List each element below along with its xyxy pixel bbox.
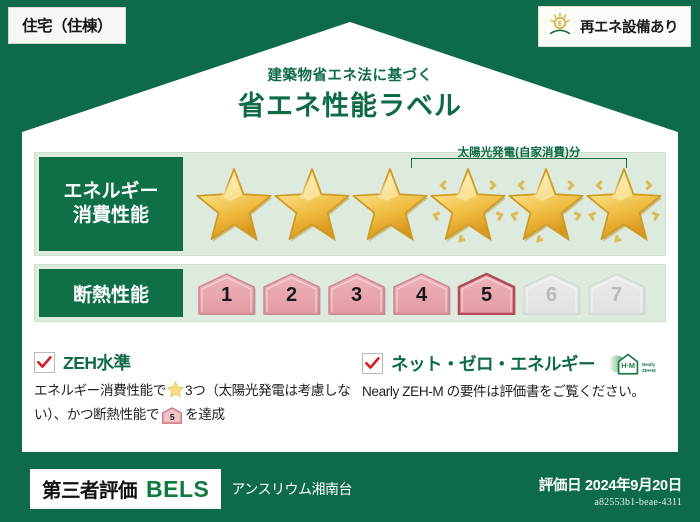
renewable-equipment-badge: E 再エネ設備あり bbox=[538, 6, 691, 47]
insulation-performance-row: 断熱性能 1 bbox=[34, 264, 666, 322]
insulation-row-body: 1 2 bbox=[187, 265, 665, 321]
insulation-marker-7: 7 bbox=[585, 271, 648, 315]
building-name: アンスリウム湘南台 bbox=[231, 479, 352, 499]
building-type-tag: 住宅（住棟） bbox=[8, 7, 126, 44]
bels-jp-label: 第三者評価 bbox=[42, 474, 137, 503]
page-title: 省エネ性能ラベル bbox=[0, 84, 700, 123]
feature-zeh-body: エネルギー消費性能で3つ（太陽光発電は考慮しない）、かつ断熱性能で5を達成 bbox=[34, 380, 354, 430]
insulation-marker-3: 3 bbox=[325, 271, 388, 315]
energy-row-body: 太陽光発電(自家消費)分 bbox=[187, 153, 665, 255]
bels-certification-box: 第三者評価 BELS bbox=[30, 469, 221, 509]
svg-text:E: E bbox=[558, 21, 563, 28]
feature-nze-title: ネット・ゼロ・エネルギー bbox=[391, 351, 595, 376]
feature-net-zero-energy: ネット・ゼロ・エネルギー H·M Nearly bbox=[362, 350, 672, 402]
svg-text:5: 5 bbox=[170, 412, 175, 422]
checkbox-checked-icon bbox=[362, 353, 383, 374]
evaluation-date: 評価日 2024年9月20日 bbox=[539, 474, 682, 495]
insulation-row-label: 断熱性能 bbox=[39, 269, 183, 317]
star-solar bbox=[429, 165, 507, 243]
energy-label-card: 住宅（住棟） E 再エネ設備あり 建築物省エネ法に基づく 省エネ性能ラベル bbox=[0, 0, 700, 522]
star-filled bbox=[273, 165, 351, 243]
zeh-m-logo: H·M Nearly ZEH-M bbox=[607, 350, 656, 376]
insulation-marker-label: 4 bbox=[416, 284, 427, 315]
insulation-marker-label: 5 bbox=[481, 284, 492, 315]
feature-nze-body: Nearly ZEH-M の要件は評価書をご覧ください。 bbox=[362, 381, 672, 402]
inline-house-marker-icon: 5 bbox=[161, 407, 183, 430]
footer-left-group: 第三者評価 BELS アンスリウム湘南台 bbox=[30, 469, 352, 509]
svg-text:H·M: H·M bbox=[621, 361, 635, 370]
insulation-marker-label: 3 bbox=[351, 284, 362, 315]
label-subtitle: 建築物省エネ法に基づく bbox=[0, 64, 700, 85]
insulation-marker-5: 5 bbox=[455, 271, 518, 315]
insulation-marker-6: 6 bbox=[520, 271, 583, 315]
energy-performance-row: エネルギー 消費性能 太陽光発電(自家消費)分 bbox=[34, 152, 666, 256]
insulation-marker-label: 1 bbox=[221, 284, 232, 315]
star-filled bbox=[351, 165, 429, 243]
star-filled bbox=[195, 165, 273, 243]
energy-row-label: エネルギー 消費性能 bbox=[39, 157, 183, 251]
feature-zeh-standard: ZEH水準 エネルギー消費性能で3つ（太陽光発電は考慮しない）、かつ断熱性能で5… bbox=[34, 350, 354, 430]
solar-sun-icon: E bbox=[547, 12, 573, 41]
zeh-m-logo-caption: Nearly ZEH-M bbox=[642, 353, 656, 373]
star-solar bbox=[585, 165, 663, 243]
star-rating bbox=[195, 153, 661, 255]
evaluation-id: a82553b1-beae-4311 bbox=[539, 497, 682, 508]
insulation-marker-label: 7 bbox=[611, 284, 622, 315]
bels-en-label: BELS bbox=[146, 476, 209, 503]
insulation-marker-1: 1 bbox=[195, 271, 258, 315]
insulation-marker-label: 6 bbox=[546, 284, 557, 315]
insulation-marker-label: 2 bbox=[286, 284, 297, 315]
insulation-marker-2: 2 bbox=[260, 271, 323, 315]
renewable-badge-label: 再エネ設備あり bbox=[580, 16, 678, 37]
inline-star-icon bbox=[167, 386, 184, 401]
checkbox-checked-icon bbox=[34, 352, 55, 373]
feature-zeh-header: ZEH水準 bbox=[34, 350, 354, 375]
star-solar bbox=[507, 165, 585, 243]
solar-portion-bracket bbox=[411, 158, 627, 168]
insulation-grade-scale: 1 2 bbox=[195, 265, 661, 321]
insulation-marker-4: 4 bbox=[390, 271, 453, 315]
feature-nze-header: ネット・ゼロ・エネルギー H·M Nearly bbox=[362, 350, 672, 376]
footer-right-group: 評価日 2024年9月20日 a82553b1-beae-4311 bbox=[539, 474, 682, 508]
feature-zeh-title: ZEH水準 bbox=[63, 350, 131, 375]
